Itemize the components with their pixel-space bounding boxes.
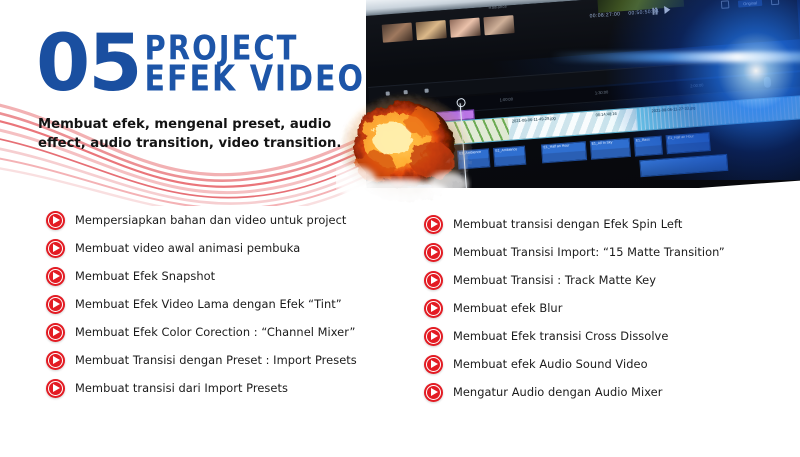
list-item[interactable]: Membuat Transisi dengan Preset : Import … [46,346,406,374]
play-icon[interactable] [664,6,671,14]
play-icon[interactable] [46,379,65,398]
list-item-label: Membuat efek Blur [453,301,562,315]
list-item[interactable]: Membuat transisi dari Import Presets [46,374,406,402]
effect-thumbnail[interactable] [416,20,447,40]
list-item[interactable]: Membuat efek Audio Sound Video [424,350,784,378]
list-item[interactable]: Membuat transisi dengan Efek Spin Left [424,210,784,238]
original-chip[interactable]: Original [738,0,762,7]
audio-clip[interactable]: E1_Ambience [457,148,490,169]
list-item-label: Membuat transisi dari Import Presets [75,381,288,395]
list-item[interactable]: Membuat Efek transisi Cross Dissolve [424,322,784,350]
list-item-label: Membuat video awal animasi pembuka [75,241,300,255]
play-icon[interactable] [424,355,443,374]
hand-tool-icon[interactable] [425,88,429,92]
page-title: 05 PROJECT EFEK VIDEO [36,26,365,102]
subtitle: Membuat efek, mengenal preset, audio eff… [38,116,358,153]
clip-thumbnail-grass [404,118,509,147]
list-item[interactable]: Mempersiapkan bahan dan video untuk proj… [46,206,406,234]
topic-list-right: Membuat transisi dengan Efek Spin Left M… [424,210,784,406]
list-item[interactable]: Membuat Transisi : Track Matte Key [424,266,784,294]
clip-transition-pattern [508,108,645,139]
audio-clip[interactable] [639,154,728,177]
lens-flare-streak [550,52,800,62]
play-icon[interactable] [46,351,65,370]
section-number: 05 [36,26,141,102]
effect-thumbnail[interactable] [484,15,515,35]
list-item[interactable]: Membuat Efek Color Corection : “Channel … [46,318,406,346]
list-item[interactable]: Membuat efek Blur [424,294,784,322]
play-icon[interactable] [46,211,65,230]
selection-tool-icon[interactable] [386,91,390,95]
ruler-mark: 1:00:00 [500,96,514,102]
slide-canvas: Radiance 00:08:27:0000:50:50:04 Original [0,0,800,457]
list-item[interactable]: Membuat Transisi Import: “15 Matte Trans… [424,238,784,266]
audio-clip[interactable]: E1_All In Sky [589,138,631,160]
play-icon[interactable] [46,239,65,258]
play-icon[interactable] [46,295,65,314]
play-icon[interactable] [424,327,443,346]
settings-icon[interactable] [721,0,730,9]
play-icon[interactable] [424,243,443,262]
ruler-mark: 1:30:00 [595,89,609,95]
title-lines: PROJECT EFEK VIDEO [145,31,365,92]
list-item-label: Membuat Transisi Import: “15 Matte Trans… [453,245,725,259]
video-editor-photo: Radiance 00:08:27:0000:50:50:04 Original [366,0,800,188]
list-item-label: Mengatur Audio dengan Audio Mixer [453,385,662,399]
list-item-label: Membuat Efek transisi Cross Dissolve [453,329,668,343]
audio-clip[interactable]: E1_Half an Hour [666,132,712,154]
list-item-label: Membuat transisi dengan Efek Spin Left [453,217,682,231]
editor-screen: Radiance 00:08:27:0000:50:50:04 Original [366,0,800,188]
list-item-label: Membuat Efek Video Lama dengan Efek “Tin… [75,297,342,311]
play-icon[interactable] [46,267,65,286]
title-line-efek-video: EFEK VIDEO [145,62,365,97]
list-item[interactable]: Mengatur Audio dengan Audio Mixer [424,378,784,406]
audio-clip[interactable]: E1_Candle [405,151,451,173]
audio-clip[interactable]: E1_Bass [634,135,663,156]
play-icon[interactable] [424,383,443,402]
audio-clip[interactable] [407,176,432,188]
list-item-label: Mempersiapkan bahan dan video untuk proj… [75,213,346,227]
audio-clip[interactable]: E1_Half an Hour [541,141,587,163]
list-item[interactable]: Membuat video awal animasi pembuka [46,234,406,262]
topic-list-left: Mempersiapkan bahan dan video untuk proj… [46,206,406,402]
list-item-label: Membuat efek Audio Sound Video [453,357,648,371]
effect-thumbnail[interactable] [382,23,413,43]
ruler-mark: 2:00:00 [690,82,704,88]
play-icon[interactable] [424,271,443,290]
list-item-label: Membuat Transisi : Track Matte Key [453,273,656,287]
list-item[interactable]: Membuat Efek Video Lama dengan Efek “Tin… [46,290,406,318]
list-item[interactable]: Membuat Efek Snapshot [46,262,406,290]
transport-controls[interactable] [652,6,671,15]
fullscreen-icon[interactable] [771,0,780,5]
effect-thumbnail[interactable] [450,18,481,38]
list-item-label: Membuat Efek Color Corection : “Channel … [75,325,355,339]
microphone-icon[interactable] [764,76,772,87]
audio-clip[interactable]: E1_Ambience [493,145,526,166]
clip-waveform [635,96,800,130]
play-icon[interactable] [424,299,443,318]
list-item-label: Membuat Transisi dengan Preset : Import … [75,353,357,367]
list-item-label: Membuat Efek Snapshot [75,269,215,283]
play-icon[interactable] [46,323,65,342]
play-icon[interactable] [424,215,443,234]
pause-icon[interactable] [652,7,657,14]
razor-tool-icon[interactable] [403,90,407,94]
